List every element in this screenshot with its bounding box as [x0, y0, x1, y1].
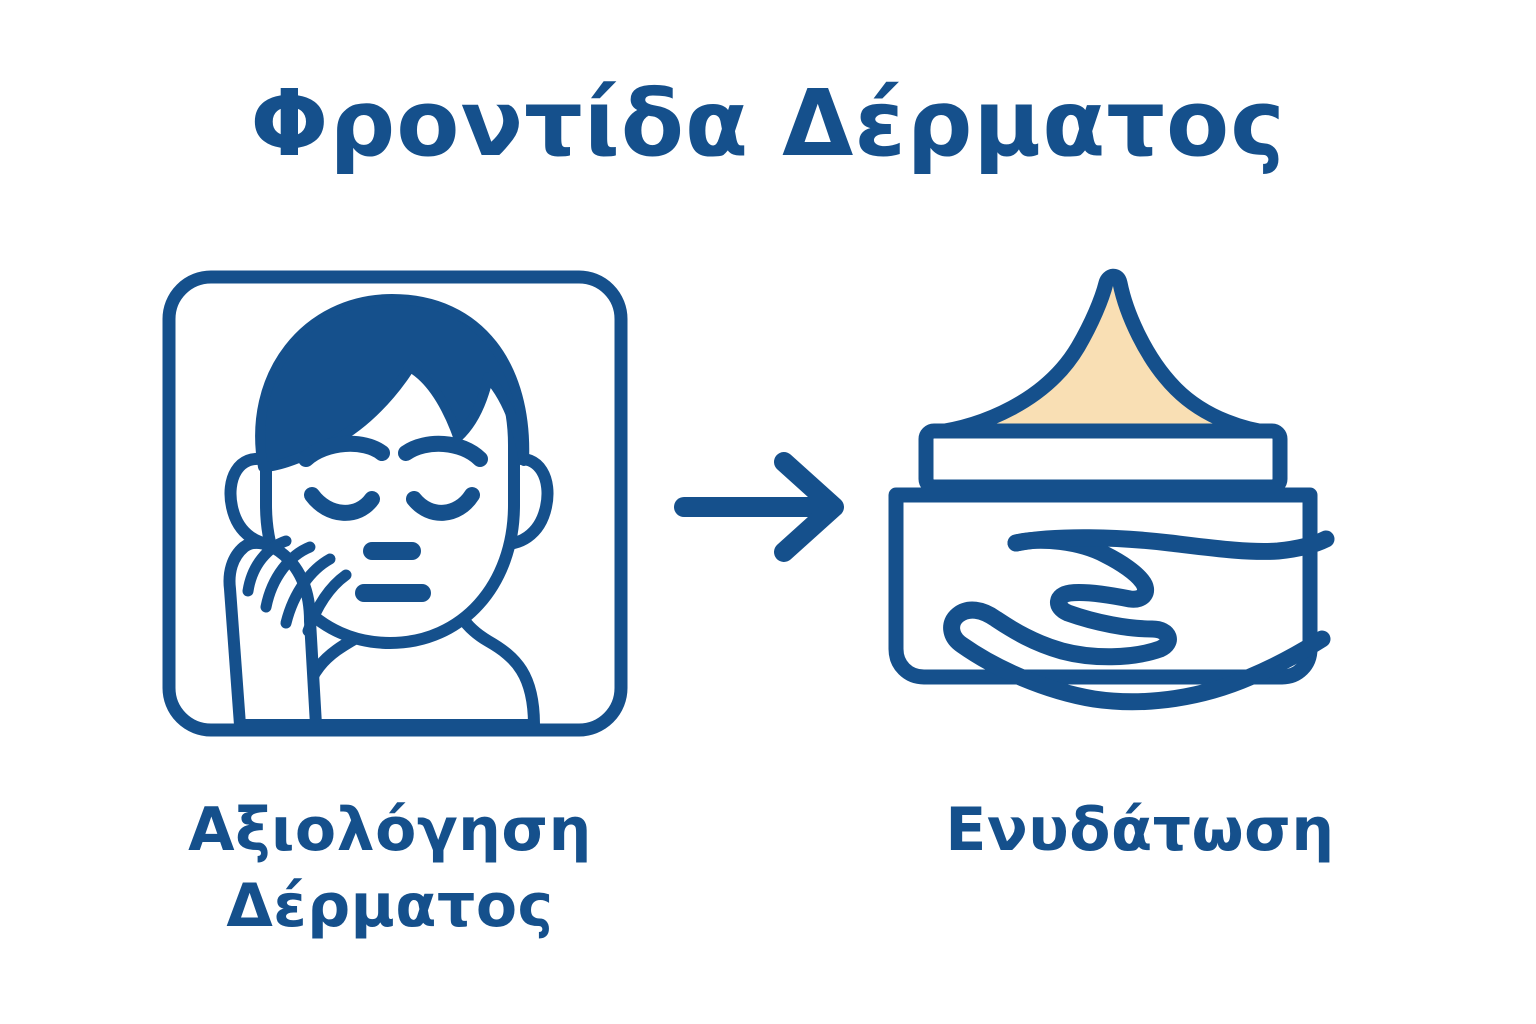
step-hydration-caption: Ενυδάτωση — [870, 793, 1410, 869]
person-figure — [230, 299, 548, 725]
step-assessment-caption: Αξιολόγηση Δέρματος — [120, 793, 660, 944]
face-touching-cheek-icon — [120, 255, 660, 745]
cream-swirl — [932, 276, 1274, 433]
caption-line-1: Αξιολόγηση — [120, 793, 660, 869]
step-hydration-figure — [870, 255, 1410, 745]
step-assessment-figure — [120, 255, 660, 745]
jar-lid-band — [926, 431, 1280, 487]
cream-jar-in-hand-icon — [870, 255, 1410, 745]
arrow-right-icon — [672, 452, 872, 562]
hand-palm — [230, 543, 316, 725]
step-hydration: Ενυδάτωση — [870, 255, 1410, 869]
page-title: Φροντίδα Δέρματος — [0, 76, 1536, 173]
caption-line-1: Ενυδάτωση — [870, 793, 1410, 869]
step-assessment: Αξιολόγηση Δέρματος — [120, 255, 660, 944]
caption-line-2: Δέρματος — [120, 869, 660, 945]
infographic-canvas: Φροντίδα Δέρματος — [0, 0, 1536, 1024]
